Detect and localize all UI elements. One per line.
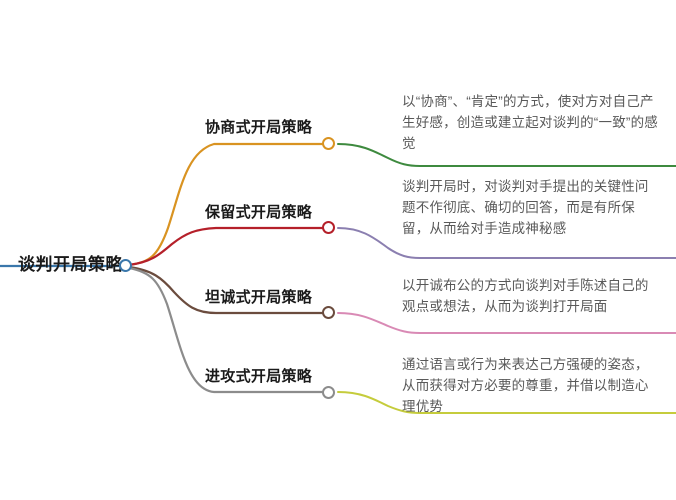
leaf-text-3: 以开诚布公的方式向谈判对手陈述自己的观点或想法，从而为谈判打开局面	[402, 275, 660, 317]
branch-node-dot-3[interactable]	[322, 306, 335, 319]
leaf-text-1: 以“协商”、“肯定”的方式，使对方对自己产生好感，创造或建立起对谈判的“一致”的…	[402, 91, 660, 154]
branch-label-3: 坦诚式开局策略	[205, 286, 312, 307]
branch-label-1: 协商式开局策略	[205, 116, 312, 137]
branch-node-dot-4[interactable]	[322, 386, 335, 399]
root-node-dot[interactable]	[119, 259, 132, 272]
branch-label-4: 进攻式开局策略	[205, 365, 312, 386]
branch-node-dot-2[interactable]	[322, 221, 335, 234]
mindmap-canvas: 谈判开局策略 协商式开局策略 以“协商”、“肯定”的方式，使对方对自己产生好感，…	[0, 0, 676, 500]
branch-line-2	[129, 228, 322, 265]
leaf-text-2: 谈判开局时，对谈判对手提出的关键性问题不作彻底、确切的回答，而是有所保留，从而给…	[402, 176, 660, 239]
branch-label-2: 保留式开局策略	[205, 201, 312, 222]
branch-node-dot-1[interactable]	[322, 137, 335, 150]
root-label: 谈判开局策略	[18, 250, 123, 275]
leaf-text-4: 通过语言或行为来表达己方强硬的姿态，从而获得对方必要的尊重，并借以制造心理优势	[402, 354, 660, 417]
